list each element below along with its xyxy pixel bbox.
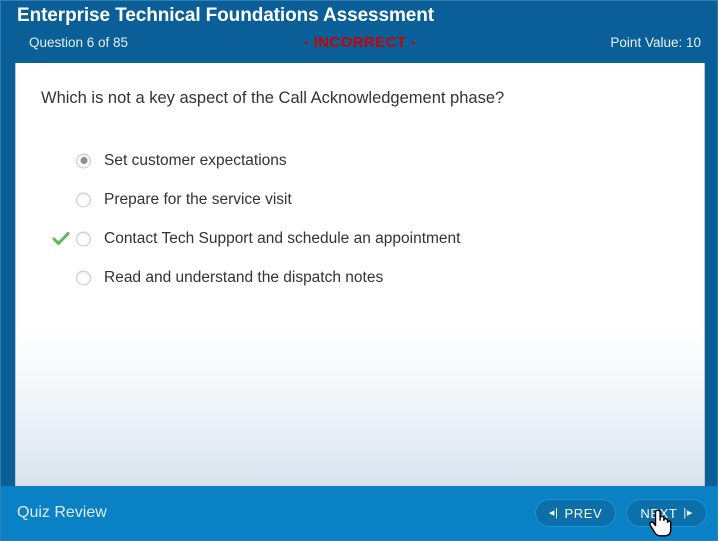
answer-option-1[interactable]: Set customer expectations bbox=[16, 141, 704, 180]
arrow-left-icon: ◂| bbox=[549, 508, 559, 519]
answer-option-4[interactable]: Read and understand the dispatch notes bbox=[16, 258, 704, 297]
question-text: Which is not a key aspect of the Call Ac… bbox=[41, 89, 504, 108]
radio-button-2[interactable] bbox=[76, 192, 91, 207]
answer-label-1: Set customer expectations bbox=[104, 152, 287, 170]
quiz-review-label: Quiz Review bbox=[17, 504, 107, 522]
answer-label-3: Contact Tech Support and schedule an app… bbox=[104, 230, 460, 248]
check-icon bbox=[52, 230, 70, 248]
answer-label-4: Read and understand the dispatch notes bbox=[104, 269, 383, 287]
question-panel: Which is not a key aspect of the Call Ac… bbox=[15, 63, 705, 488]
next-button[interactable]: NEXT |▸ bbox=[626, 499, 707, 527]
prev-button[interactable]: ◂| PREV bbox=[535, 499, 616, 527]
quiz-window: Enterprise Technical Foundations Assessm… bbox=[0, 0, 718, 541]
point-value-label: Point Value: 10 bbox=[610, 35, 701, 50]
radio-button-1[interactable] bbox=[76, 153, 91, 168]
navigation-buttons: ◂| PREV NEXT |▸ bbox=[535, 499, 707, 527]
arrow-right-icon: |▸ bbox=[683, 508, 693, 519]
next-button-label: NEXT bbox=[640, 507, 677, 520]
answer-option-2[interactable]: Prepare for the service visit bbox=[16, 180, 704, 219]
answer-option-3[interactable]: Contact Tech Support and schedule an app… bbox=[16, 219, 704, 258]
radio-button-3[interactable] bbox=[76, 231, 91, 246]
quiz-header: Enterprise Technical Foundations Assessm… bbox=[1, 1, 718, 63]
radio-button-4[interactable] bbox=[76, 270, 91, 285]
prev-button-label: PREV bbox=[565, 507, 603, 520]
answer-options-list: Set customer expectations Prepare for th… bbox=[16, 141, 704, 297]
answer-label-2: Prepare for the service visit bbox=[104, 191, 292, 209]
quiz-footer: Quiz Review ◂| PREV NEXT |▸ bbox=[1, 486, 718, 540]
quiz-title: Enterprise Technical Foundations Assessm… bbox=[17, 5, 434, 27]
